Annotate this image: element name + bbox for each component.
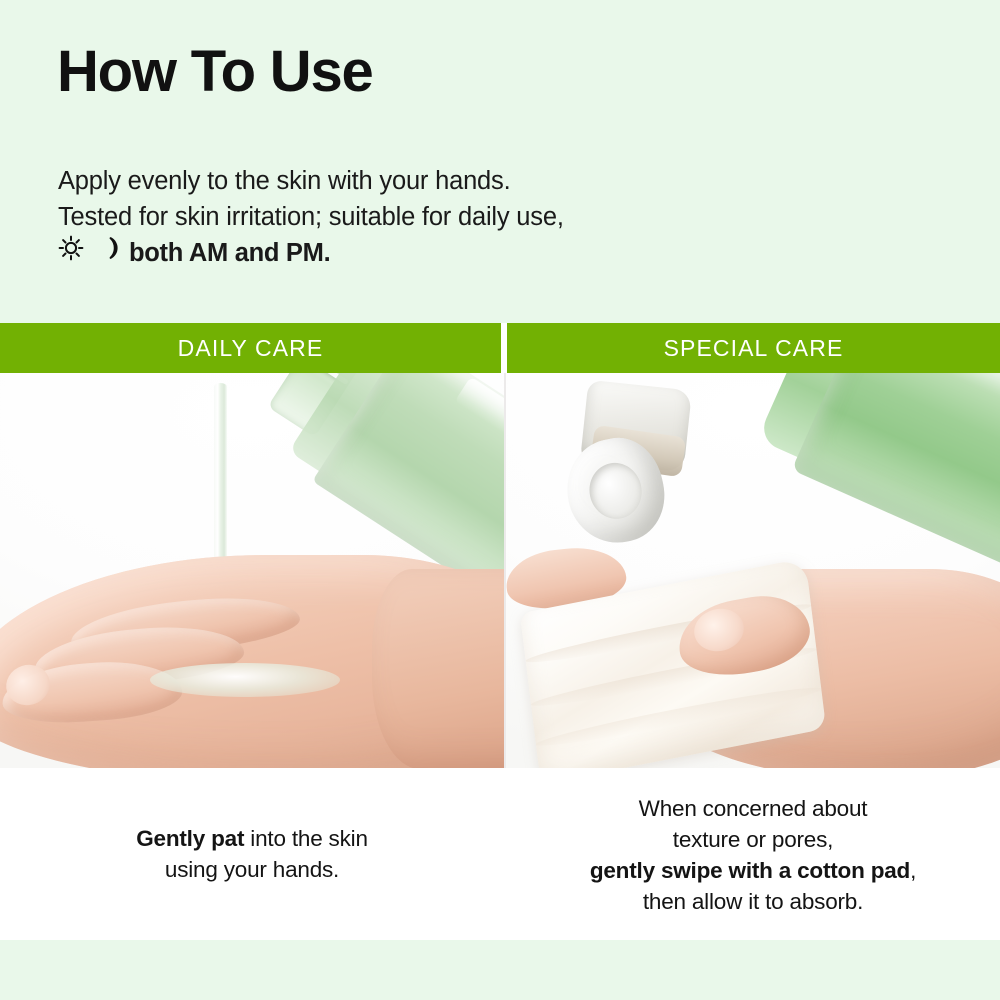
daily-care-caption: Gently pat into the skin using your hand…: [0, 768, 504, 885]
intro-line-1: Apply evenly to the skin with your hands…: [58, 163, 564, 199]
footer-band: [0, 940, 1000, 1000]
liquid-highlight: [454, 377, 504, 587]
caption-line: gently swipe with a cotton pad,: [506, 855, 1000, 886]
daily-care-label: DAILY CARE: [178, 335, 324, 362]
caption-bold-text: gently swipe with a cotton pad: [590, 858, 910, 883]
wrist: [372, 569, 504, 768]
intro-line-2: Tested for skin irritation; suitable for…: [58, 199, 564, 235]
liquid-puddle: [150, 663, 340, 697]
special-care-label: SPECIAL CARE: [664, 335, 844, 362]
header-band: How To Use Apply evenly to the skin with…: [0, 0, 1000, 323]
caption-line: When concerned about: [506, 793, 1000, 824]
special-care-caption: When concerned about texture or pores, g…: [506, 768, 1000, 917]
moon-icon: [93, 235, 118, 271]
caption-line: Gently pat into the skin: [0, 823, 504, 854]
caption-line: using your hands.: [0, 854, 504, 885]
caption-line: texture or pores,: [506, 824, 1000, 855]
caption-text: ,: [910, 858, 916, 883]
intro-line-3: both AM and PM.: [58, 235, 564, 271]
page-title: How To Use: [57, 42, 373, 103]
caption-row: Gently pat into the skin using your hand…: [0, 768, 1000, 940]
special-care-photo: enua: [506, 373, 1000, 768]
intro-text-block: Apply evenly to the skin with your hands…: [58, 163, 564, 271]
caption-bold-text: Gently pat: [136, 826, 244, 851]
daily-care-bar: DAILY CARE: [0, 323, 501, 373]
intro-bold-text: both AM and PM.: [129, 235, 330, 271]
special-care-bar: SPECIAL CARE: [507, 323, 1000, 373]
caption-text: into the skin: [244, 826, 368, 851]
daily-care-photo: Anua 3+: [0, 373, 504, 768]
how-to-use-infographic: How To Use Apply evenly to the skin with…: [0, 0, 1000, 1000]
photo-row: Anua 3+ enua: [0, 373, 1000, 768]
sun-icon: [58, 235, 84, 271]
bottle-brand-text: enua: [991, 399, 1000, 465]
caption-line: then allow it to absorb.: [506, 886, 1000, 917]
